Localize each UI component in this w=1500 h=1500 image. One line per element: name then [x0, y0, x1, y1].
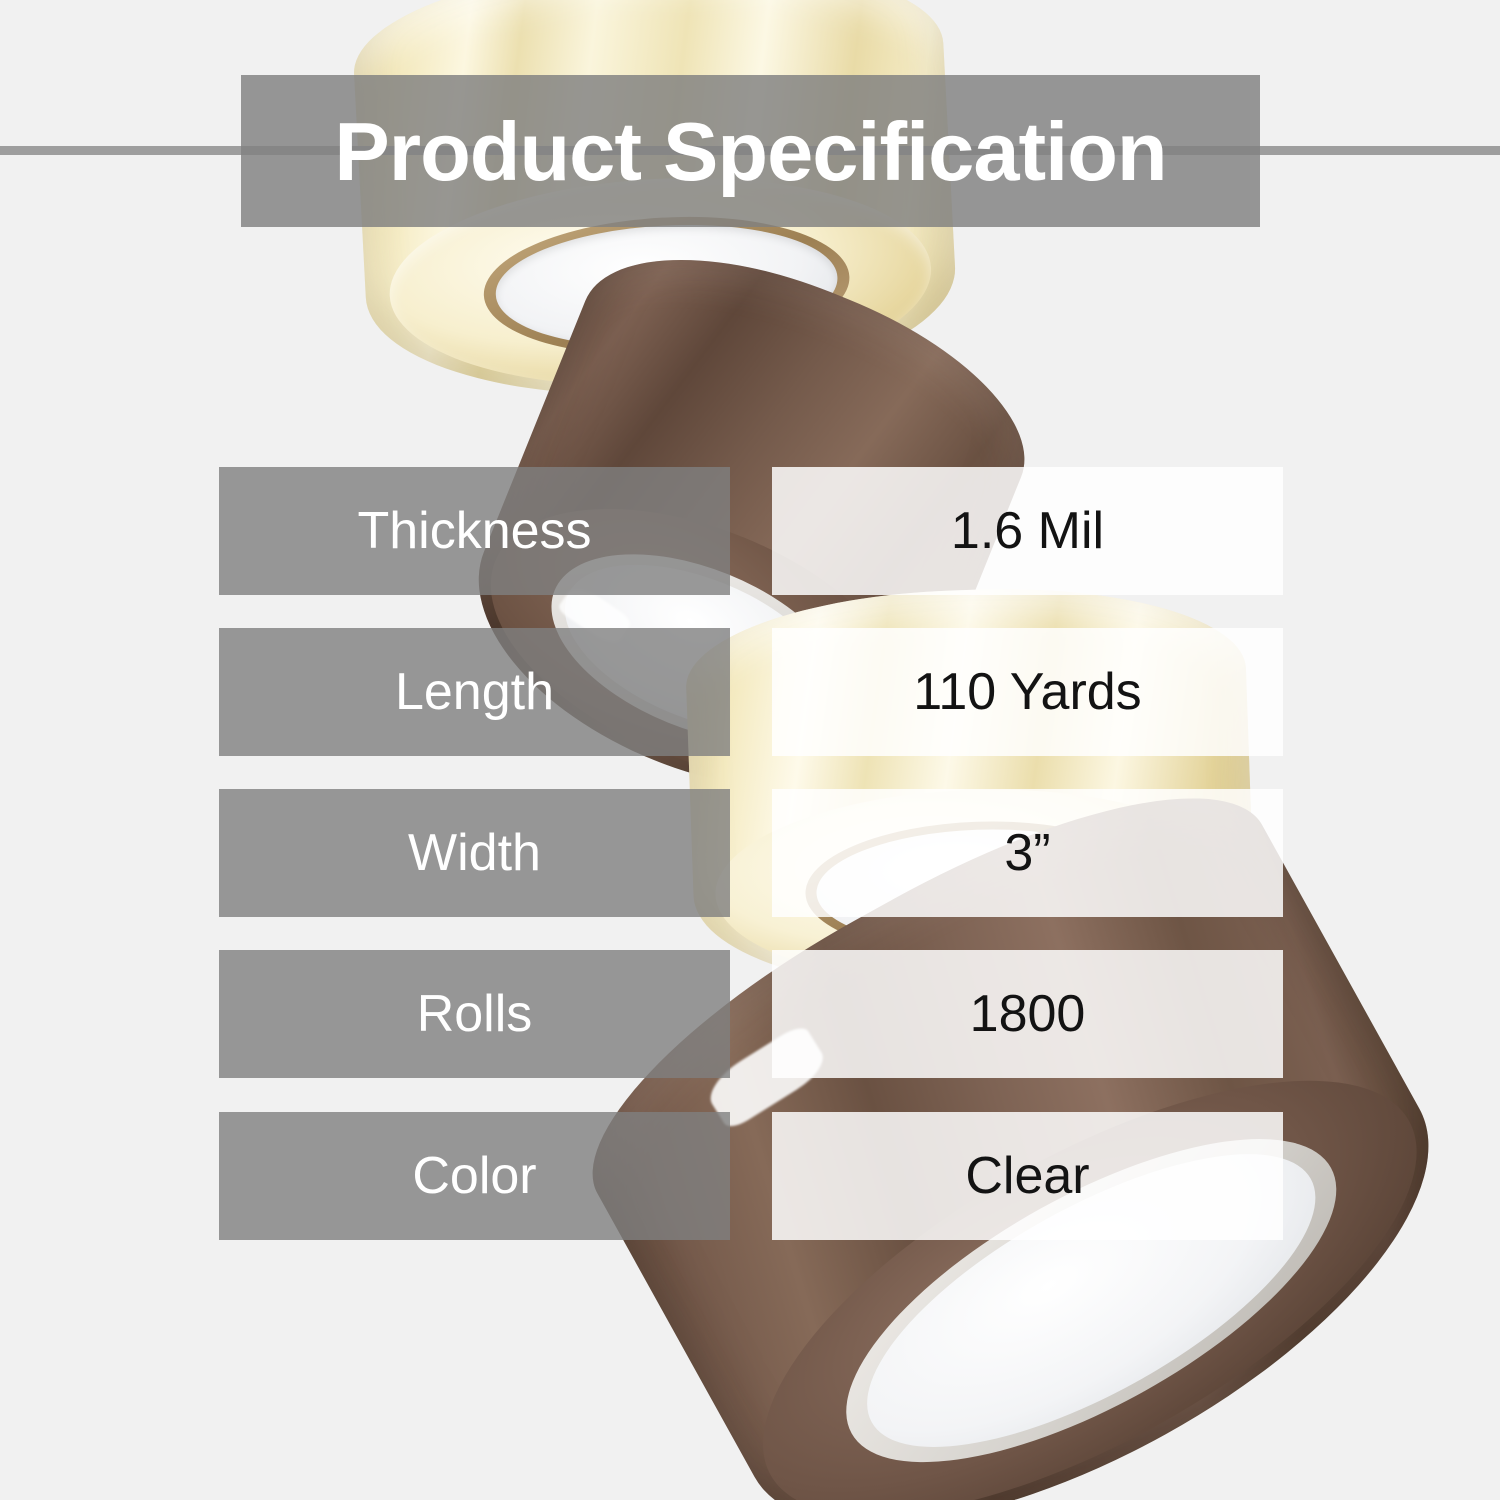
specification-table: Thickness 1.6 Mil Length 110 Yards Width… [0, 0, 1500, 1500]
table-row: Length 110 Yards [0, 628, 1500, 756]
spec-label-cell-length: Length [219, 628, 730, 756]
spec-value-cell-thickness: 1.6 Mil [772, 467, 1283, 595]
spec-value-cell-length: 110 Yards [772, 628, 1283, 756]
table-row: Thickness 1.6 Mil [0, 467, 1500, 595]
spec-value-cell-color: Clear [772, 1112, 1283, 1240]
product-specification-graphic: Product Specification Thickness 1.6 Mil … [0, 0, 1500, 1500]
spec-label: Thickness [357, 505, 591, 557]
spec-label: Width [408, 827, 541, 879]
spec-label-cell-thickness: Thickness [219, 467, 730, 595]
spec-label: Rolls [417, 988, 533, 1040]
spec-label: Color [412, 1150, 536, 1202]
spec-value: Clear [965, 1150, 1089, 1202]
table-row: Color Clear [0, 1112, 1500, 1240]
spec-value: 3” [1004, 827, 1050, 879]
spec-label-cell-width: Width [219, 789, 730, 917]
table-row: Width 3” [0, 789, 1500, 917]
spec-value-cell-width: 3” [772, 789, 1283, 917]
spec-label-cell-rolls: Rolls [219, 950, 730, 1078]
spec-value: 1800 [970, 988, 1086, 1040]
spec-label: Length [395, 666, 554, 718]
spec-value: 1.6 Mil [951, 505, 1104, 557]
spec-value-cell-rolls: 1800 [772, 950, 1283, 1078]
table-row: Rolls 1800 [0, 950, 1500, 1078]
spec-value: 110 Yards [913, 666, 1141, 718]
spec-label-cell-color: Color [219, 1112, 730, 1240]
